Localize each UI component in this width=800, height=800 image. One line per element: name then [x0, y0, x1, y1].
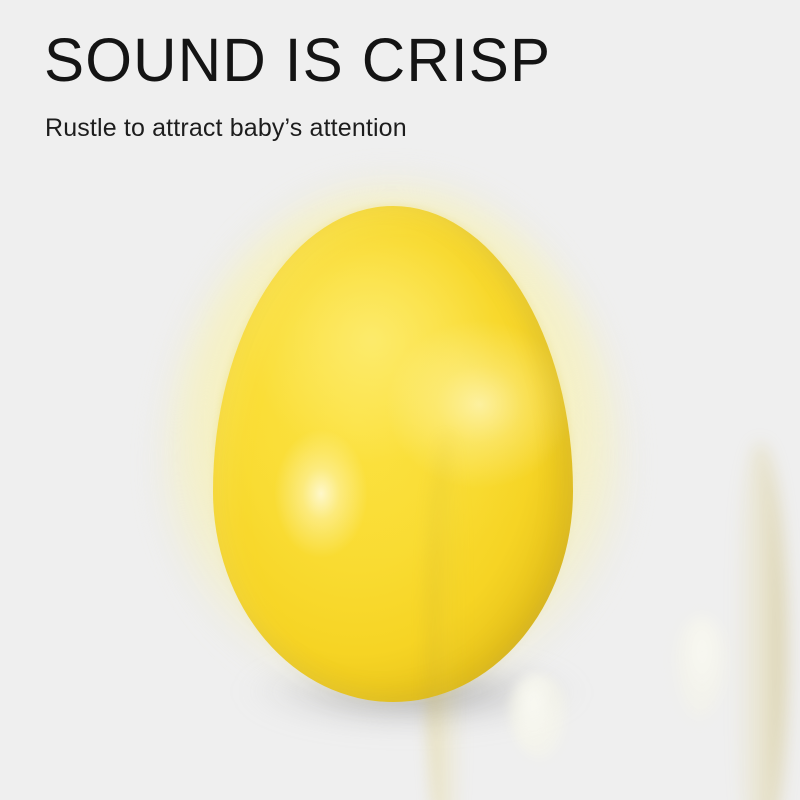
egg-right-edge-shade: [733, 442, 787, 800]
promo-image-canvas: SOUND IS CRISP Rustle to attract baby’s …: [0, 0, 800, 800]
headline: SOUND IS CRISP: [44, 30, 674, 91]
subhead: Rustle to attract baby’s attention: [45, 116, 684, 141]
copy-block: SOUND IS CRISP Rustle to attract baby’s …: [44, 30, 684, 141]
egg-upper-right-sheen-highlight: [675, 616, 727, 720]
